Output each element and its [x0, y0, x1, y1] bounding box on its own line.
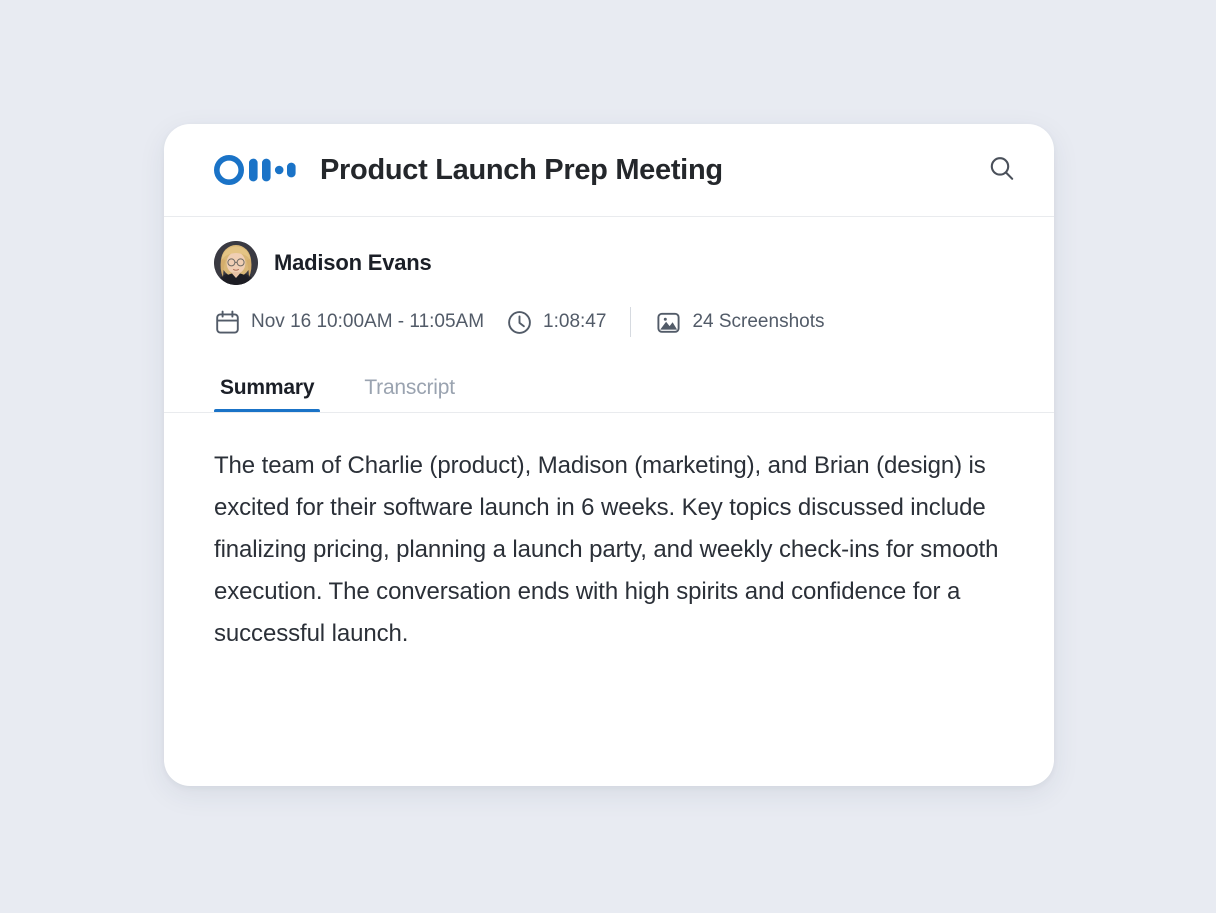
summary-body: The team of Charlie (product), Madison (…: [214, 445, 1004, 655]
screen: Product Launch Prep Meeting: [0, 0, 1216, 913]
meeting-date-label: Nov 16 10:00AM - 11:05AM: [251, 311, 484, 333]
tab-transcript[interactable]: Transcript: [358, 375, 461, 413]
image-icon: [655, 309, 681, 335]
meta-divider: [630, 307, 631, 337]
speaker-name: Madison Evans: [274, 250, 432, 276]
search-button[interactable]: [980, 148, 1024, 192]
screenshots-count-label: 24 Screenshots: [692, 311, 824, 333]
meta-item-duration: 1:08:47: [506, 309, 606, 335]
speaker-row: Madison Evans: [214, 217, 1004, 285]
otter-logo-icon[interactable]: [214, 153, 296, 187]
tab-summary[interactable]: Summary: [214, 375, 320, 413]
card-header: Product Launch Prep Meeting: [164, 124, 1054, 217]
page-title: Product Launch Prep Meeting: [320, 154, 980, 187]
clock-icon: [506, 309, 532, 335]
meeting-card: Product Launch Prep Meeting: [164, 124, 1054, 786]
meta-item-date: Nov 16 10:00AM - 11:05AM: [214, 309, 484, 335]
calendar-icon: [214, 309, 240, 335]
meeting-meta-row: Nov 16 10:00AM - 11:05AM 1:08:47: [214, 307, 1004, 337]
meeting-duration-label: 1:08:47: [543, 311, 606, 333]
avatar[interactable]: [214, 241, 258, 285]
search-icon: [987, 154, 1017, 187]
meta-item-screenshots[interactable]: 24 Screenshots: [655, 309, 824, 335]
card-body: Madison Evans Nov 16 10:00AM - 11:05AM: [164, 217, 1054, 655]
tab-bar: Summary Transcript: [214, 365, 1004, 413]
